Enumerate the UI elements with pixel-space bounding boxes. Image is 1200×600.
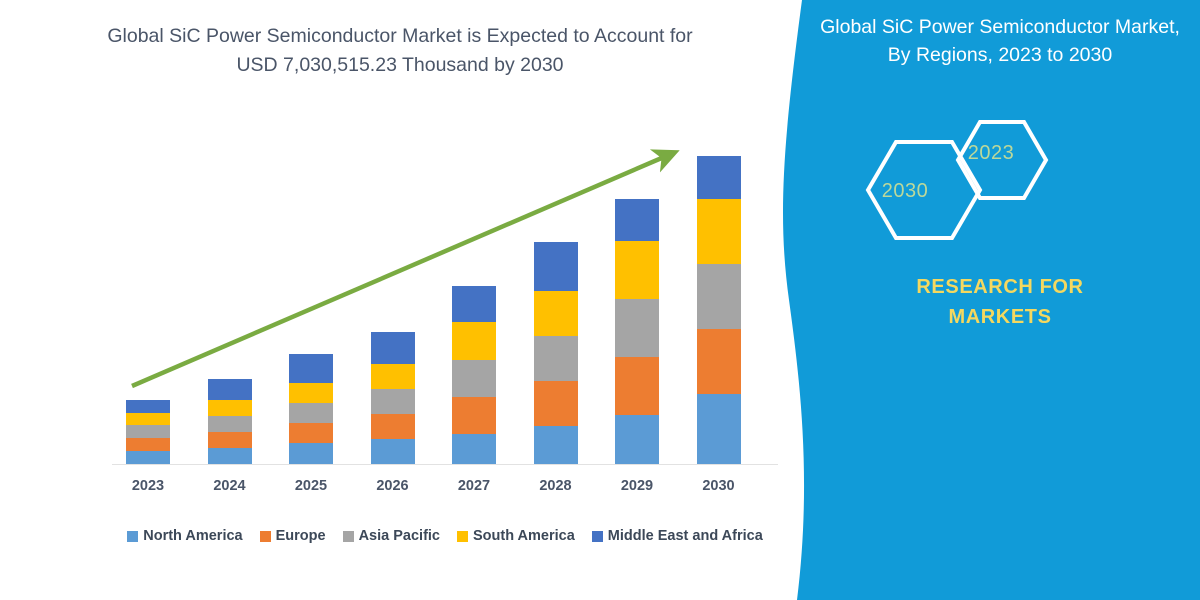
bar-segment-north-america[interactable] [289, 443, 333, 464]
bar-segment-europe[interactable] [615, 357, 659, 415]
bar-segment-asia-pacific[interactable] [615, 299, 659, 357]
bar-segment-asia-pacific[interactable] [208, 416, 252, 432]
legend-label: Middle East and Africa [608, 528, 763, 544]
bar-2030[interactable] [697, 156, 741, 464]
legend-item-north-america[interactable]: North America [127, 528, 242, 544]
legend-swatch-icon [457, 531, 468, 542]
bar-segment-north-america[interactable] [208, 448, 252, 464]
x-axis-label-2024: 2024 [190, 478, 270, 494]
legend-swatch-icon [592, 531, 603, 542]
bar-segment-south-america[interactable] [289, 383, 333, 403]
bar-segment-south-america[interactable] [371, 364, 415, 389]
bar-segment-middle-east-and-africa[interactable] [452, 286, 496, 322]
bar-segment-asia-pacific[interactable] [126, 425, 170, 438]
x-axis-label-2028: 2028 [516, 478, 596, 494]
legend-label: Europe [276, 528, 326, 544]
legend-label: North America [143, 528, 242, 544]
bar-segment-middle-east-and-africa[interactable] [371, 332, 415, 364]
chart-plot-area: 20232024202520262027202820292030 [0, 0, 790, 600]
bar-2025[interactable] [289, 354, 333, 464]
legend-item-south-america[interactable]: South America [457, 528, 575, 544]
bar-segment-middle-east-and-africa[interactable] [534, 242, 578, 291]
legend-item-europe[interactable]: Europe [260, 528, 326, 544]
bar-segment-middle-east-and-africa[interactable] [126, 400, 170, 413]
x-axis-label-2029: 2029 [597, 478, 677, 494]
hexagon-2023-label: 2023 [936, 142, 1046, 165]
bar-2027[interactable] [452, 286, 496, 464]
x-axis-label-2027: 2027 [434, 478, 514, 494]
bar-segment-north-america[interactable] [452, 434, 496, 464]
brand-line-1: RESEARCH FOR [820, 272, 1180, 302]
bar-2023[interactable] [126, 400, 170, 464]
bar-2029[interactable] [615, 199, 659, 464]
bar-segment-europe[interactable] [371, 414, 415, 439]
bar-segment-south-america[interactable] [208, 400, 252, 416]
bar-segment-north-america[interactable] [697, 394, 741, 464]
legend-item-asia-pacific[interactable]: Asia Pacific [343, 528, 440, 544]
bar-segment-asia-pacific[interactable] [534, 336, 578, 381]
x-axis-label-2030: 2030 [679, 478, 759, 494]
bar-segment-europe[interactable] [697, 329, 741, 394]
bar-segment-europe[interactable] [126, 438, 170, 451]
legend-swatch-icon [343, 531, 354, 542]
bar-segment-europe[interactable] [452, 397, 496, 434]
legend-swatch-icon [260, 531, 271, 542]
bar-segment-middle-east-and-africa[interactable] [615, 199, 659, 241]
bar-segment-south-america[interactable] [126, 413, 170, 425]
bar-segment-north-america[interactable] [534, 426, 578, 464]
bar-2026[interactable] [371, 332, 415, 464]
bar-segment-middle-east-and-africa[interactable] [697, 156, 741, 199]
legend-swatch-icon [127, 531, 138, 542]
x-axis-label-2023: 2023 [108, 478, 188, 494]
brand-logo-text: RESEARCH FOR MARKETS [820, 272, 1180, 332]
bar-segment-middle-east-and-africa[interactable] [208, 379, 252, 400]
legend-item-middle-east-and-africa[interactable]: Middle East and Africa [592, 528, 763, 544]
bar-2024[interactable] [208, 379, 252, 464]
chart-legend: North AmericaEuropeAsia PacificSouth Ame… [112, 528, 778, 544]
bar-segment-north-america[interactable] [126, 451, 170, 464]
panel-title: Global SiC Power Semiconductor Market, B… [820, 14, 1180, 69]
brand-line-2: MARKETS [820, 302, 1180, 332]
bar-segment-south-america[interactable] [615, 241, 659, 299]
x-axis-label-2026: 2026 [353, 478, 433, 494]
bar-segment-middle-east-and-africa[interactable] [289, 354, 333, 383]
bar-segment-south-america[interactable] [534, 291, 578, 336]
x-axis-line [112, 464, 778, 465]
right-panel: Global SiC Power Semiconductor Market, B… [800, 0, 1200, 600]
bar-segment-south-america[interactable] [452, 322, 496, 360]
legend-label: Asia Pacific [359, 528, 440, 544]
hexagon-2030-label: 2030 [850, 180, 960, 203]
bar-segment-north-america[interactable] [615, 415, 659, 464]
bar-2028[interactable] [534, 242, 578, 464]
bar-segment-asia-pacific[interactable] [452, 360, 496, 397]
bar-segment-north-america[interactable] [371, 439, 415, 464]
infographic-root: Global SiC Power Semiconductor Market, B… [0, 0, 1200, 600]
bar-segment-europe[interactable] [289, 423, 333, 443]
bar-segment-asia-pacific[interactable] [371, 389, 415, 414]
bar-segment-europe[interactable] [534, 381, 578, 426]
bar-segment-asia-pacific[interactable] [289, 403, 333, 423]
bar-segment-south-america[interactable] [697, 199, 741, 264]
x-axis-label-2025: 2025 [271, 478, 351, 494]
legend-label: South America [473, 528, 575, 544]
bar-segment-europe[interactable] [208, 432, 252, 448]
hexagon-group: 2030 2023 [828, 108, 1168, 278]
growth-arrow-icon [0, 0, 790, 600]
bar-segment-asia-pacific[interactable] [697, 264, 741, 329]
